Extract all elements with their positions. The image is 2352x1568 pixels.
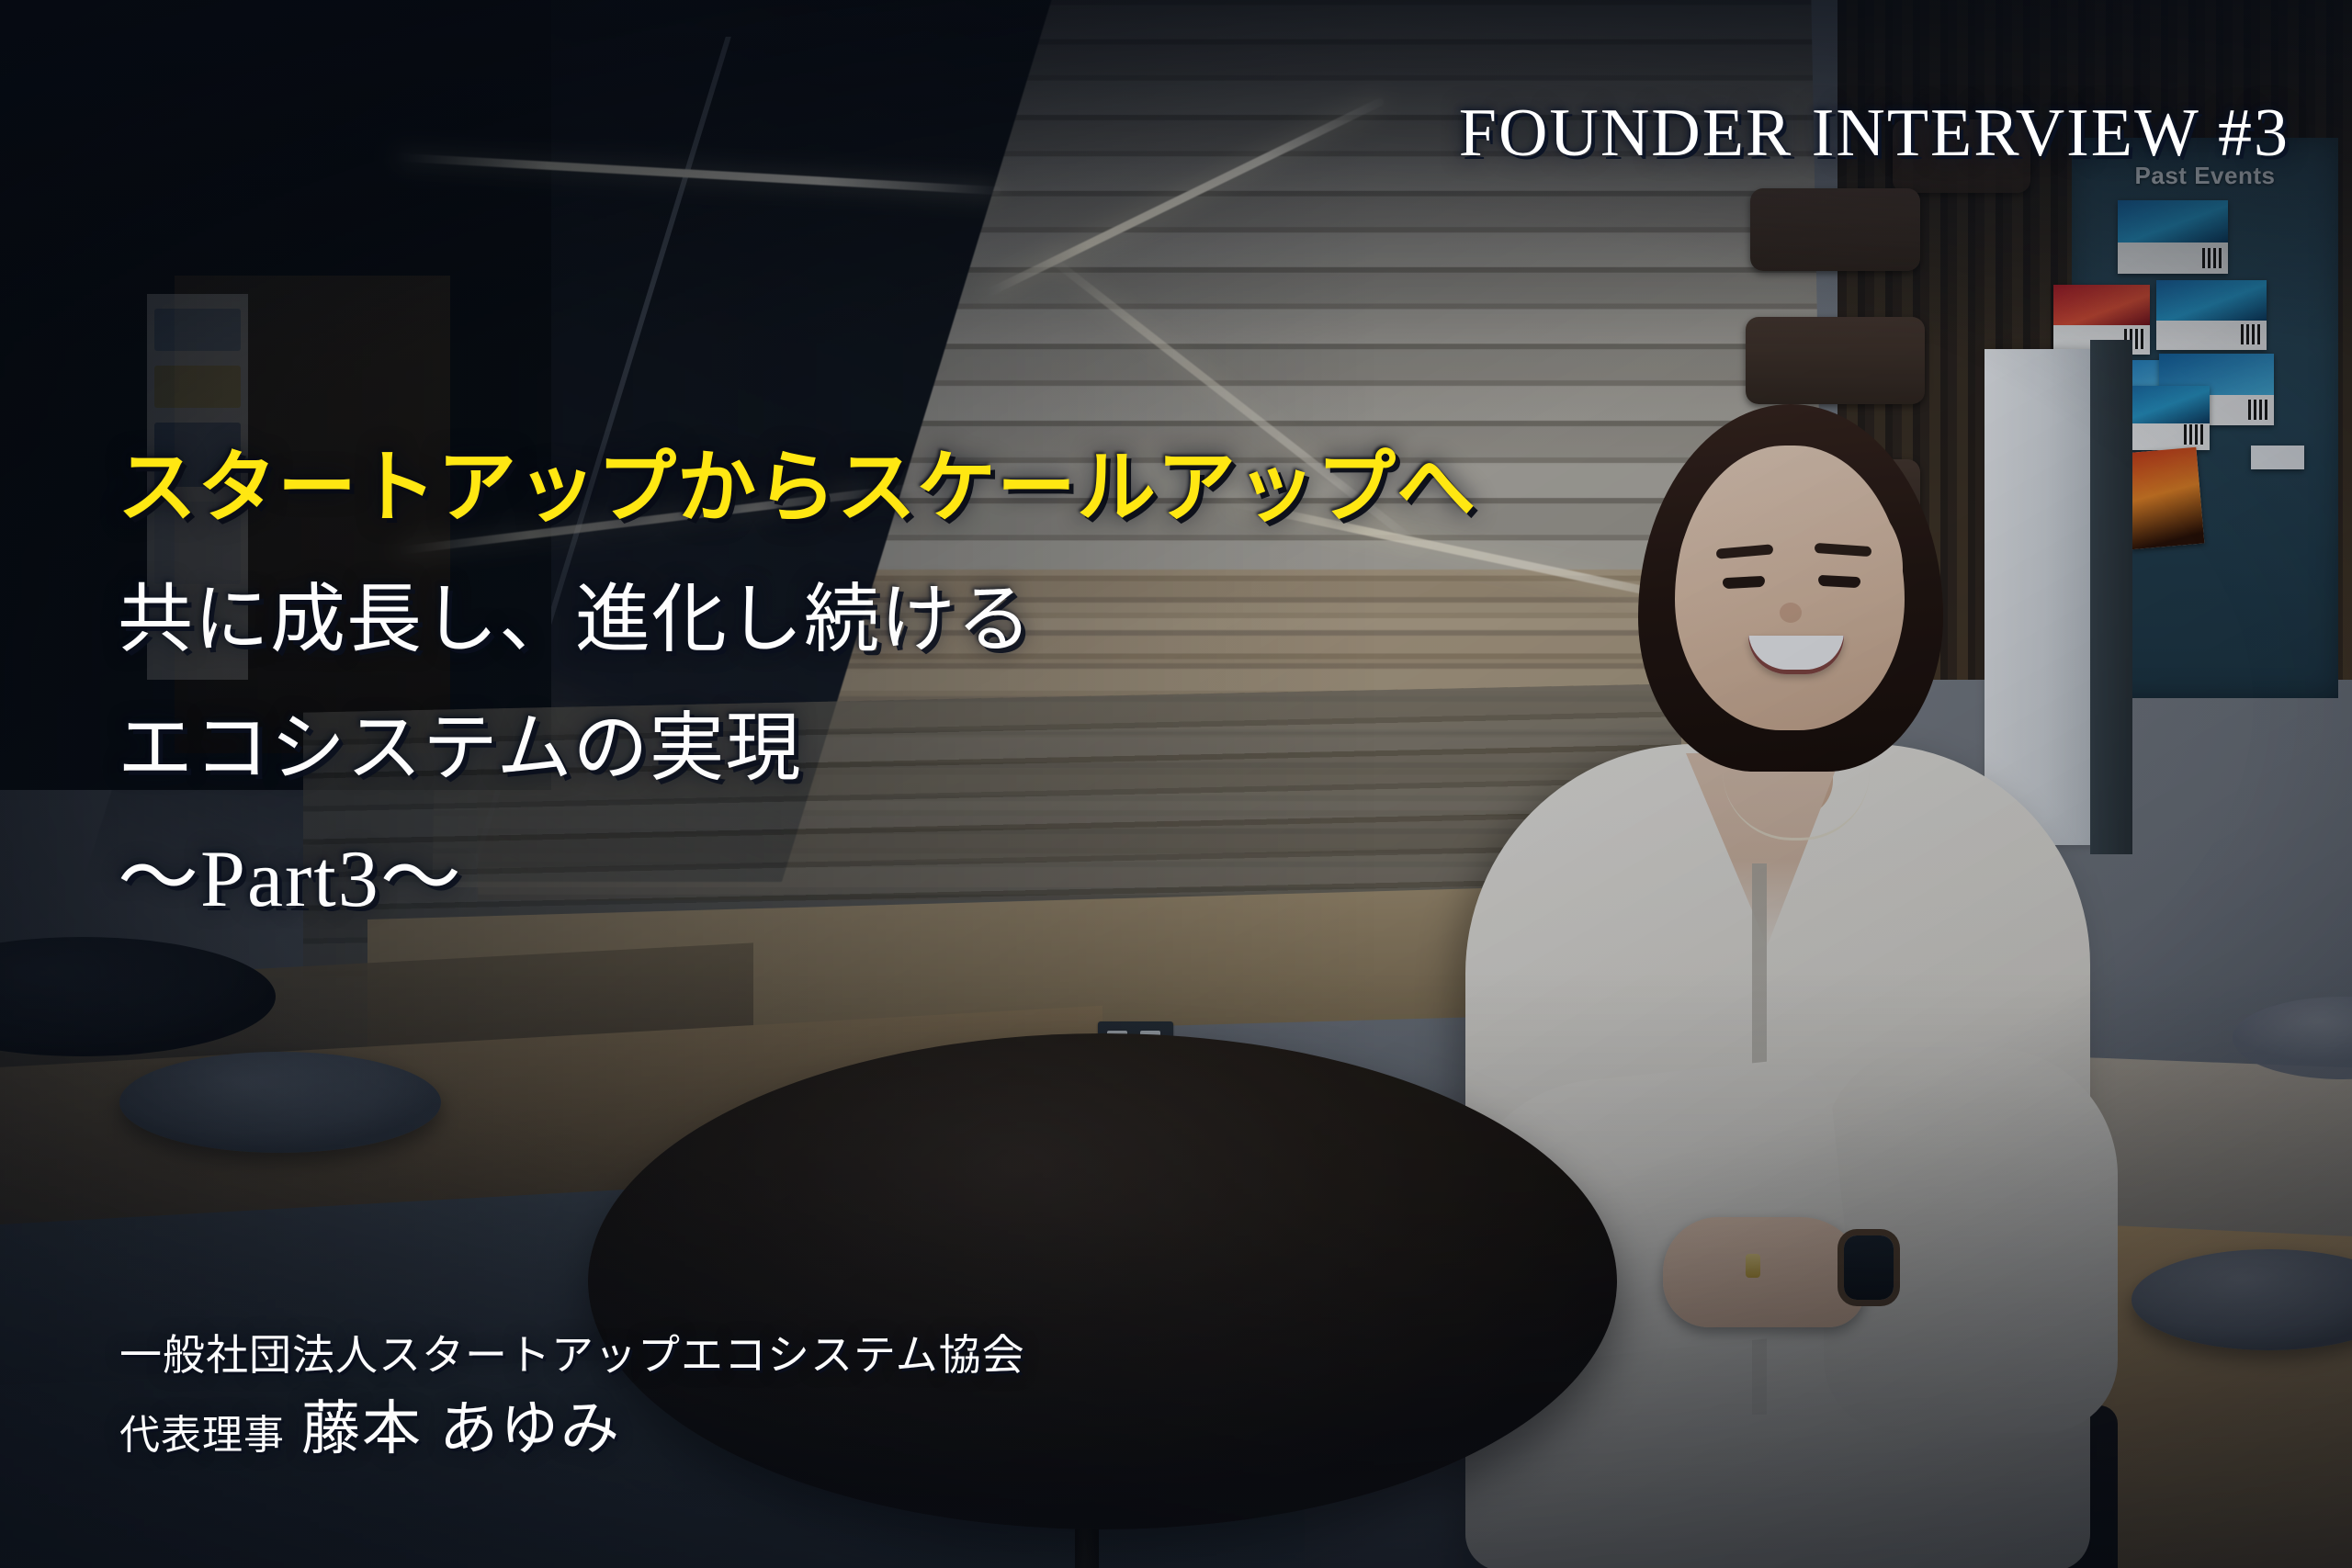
title-line-3: エコシステムの実現: [118, 711, 1476, 786]
credit-block: 一般社団法人スタートアップエコシステム協会 代表理事藤本 あゆみ: [119, 1329, 1025, 1465]
title-line-2: 共に成長し、進化し続ける: [118, 582, 1476, 658]
series-kicker: FOUNDER INTERVIEW #3: [1459, 99, 2290, 167]
title-line-4-part: 〜Part3〜: [118, 840, 1476, 920]
credit-name: 藤本 あゆみ: [301, 1396, 621, 1461]
title-line-1: スタートアップからスケールアップへ: [118, 448, 1476, 527]
text-overlay: FOUNDER INTERVIEW #3 スタートアップからスケールアップへ 共…: [0, 0, 2352, 1568]
credit-role: 代表理事: [119, 1413, 285, 1458]
credit-person: 代表理事藤本 あゆみ: [119, 1394, 1025, 1465]
title-block: スタートアップからスケールアップへ 共に成長し、進化し続ける エコシステムの実現…: [118, 448, 1476, 920]
video-title-card: Past Events: [0, 0, 2352, 1568]
credit-organization: 一般社団法人スタートアップエコシステム協会: [119, 1329, 1025, 1382]
